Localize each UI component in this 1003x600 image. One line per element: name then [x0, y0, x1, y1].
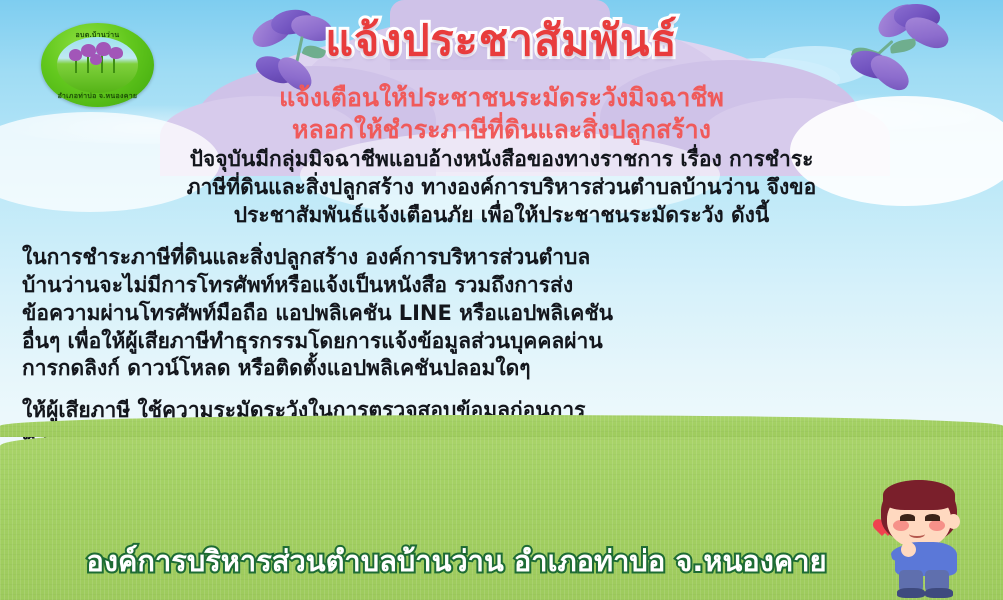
- text-line: ปัจจุบันมีกลุ่มมิจฉาชีพแอบอ้างหนังสือของ…: [22, 146, 981, 174]
- text-line: ข้อความผ่านโทรศัพท์มือถือ แอปพลิเคชัน LI…: [22, 300, 981, 328]
- text-line: บ้านว่านจะไม่มีการโทรศัพท์หรือแจ้งเป็นหน…: [22, 272, 981, 300]
- text-line: ภาษีที่ดินและสิ่งปลูกสร้าง ทางองค์การบริ…: [22, 174, 981, 202]
- paragraph: ปัจจุบันมีกลุ่มมิจฉาชีพแอบอ้างหนังสือของ…: [22, 146, 981, 230]
- text-line: อื่นๆ เพื่อให้ผู้เสียภาษีทำธุรกรรมโดยการ…: [22, 328, 981, 356]
- paragraph: ในการชำระภาษีที่ดินและสิ่งปลูกสร้าง องค์…: [22, 244, 981, 384]
- page-title: แจ้งประชาสัมพันธ์: [0, 18, 1003, 64]
- footer-organization-name: องค์การบริหารส่วนตำบลบ้านว่าน อำเภอท่าบ่…: [0, 538, 1003, 584]
- text-line: ประชาสัมพันธ์แจ้งเตือนภัย เพื่อให้ประชาช…: [22, 202, 981, 230]
- announcement-poster: อบต.บ้านว่าน อำเภอท่าบ่อ จ.หนองคาย: [0, 0, 1003, 600]
- subtitle: แจ้งเตือนให้ประชาชนระมัดระวังมิจฉาชีพ หล…: [0, 82, 1003, 146]
- subtitle-line-2: หลอกให้ชำระภาษีที่ดินและสิ่งปลูกสร้าง: [0, 114, 1003, 146]
- boy-wai-greeting-illustration: [855, 476, 995, 598]
- text-line: ในการชำระภาษีที่ดินและสิ่งปลูกสร้าง องค์…: [22, 244, 981, 272]
- subtitle-line-1: แจ้งเตือนให้ประชาชนระมัดระวังมิจฉาชีพ: [0, 82, 1003, 114]
- text-line: การกดลิงก์ ดาวน์โหลด หรือติดตั้งแอปพลิเค…: [22, 355, 981, 383]
